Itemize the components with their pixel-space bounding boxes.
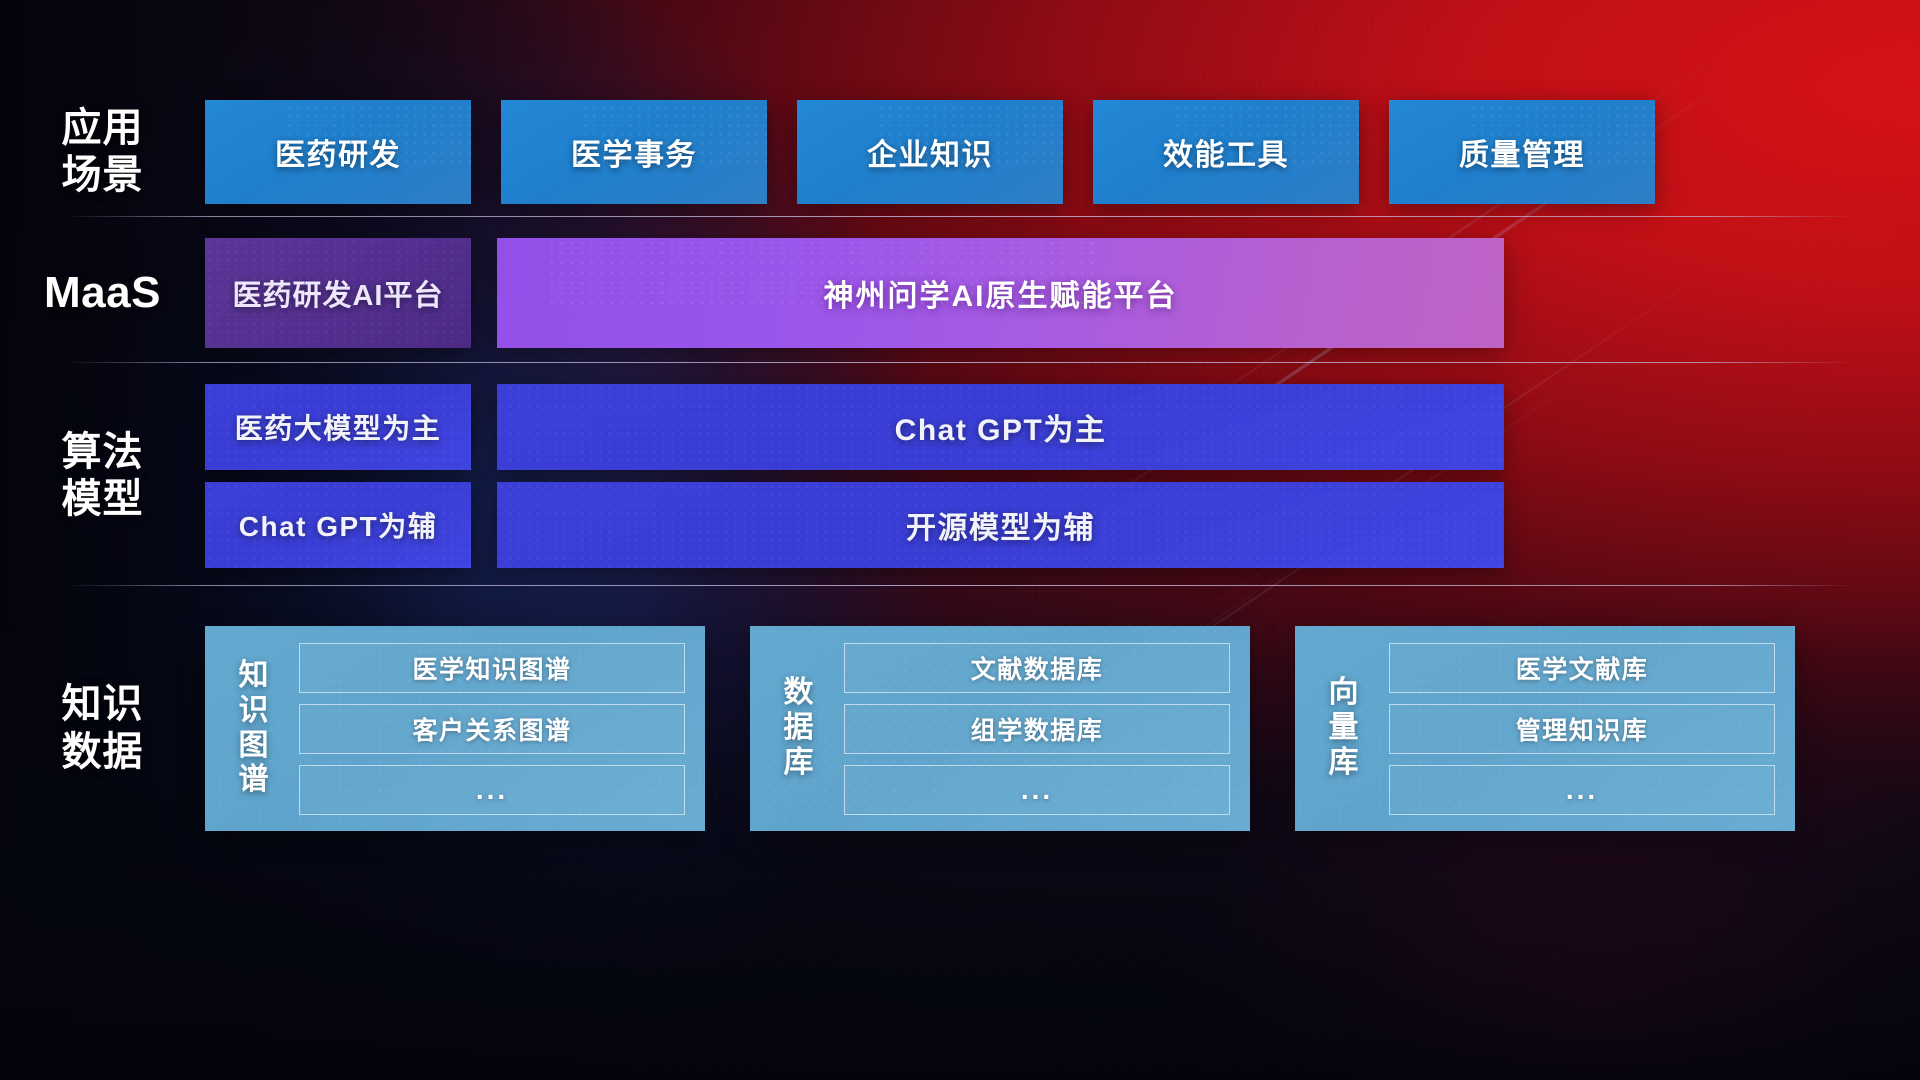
- knowledge-item-more[interactable]: ...: [299, 765, 685, 815]
- tier-body-maas: 医药研发AI平台 神州问学AI原生赋能平台: [205, 238, 1920, 348]
- tier-body-knowledge-data: 知 识 图 谱 医学知识图谱 客户关系图谱 ... 数 据 库 文献数据库 组学…: [205, 626, 1920, 831]
- divider-tier3-tier4: [72, 585, 1848, 586]
- algo-row-secondary: Chat GPT为辅 开源模型为辅: [205, 482, 1504, 568]
- knowledge-item-more[interactable]: ...: [844, 765, 1230, 815]
- knowledge-item-list: 医学文献库 管理知识库 ...: [1389, 643, 1775, 815]
- tier-algorithm-model: 算法 模型 医药大模型为主 Chat GPT为主 Chat GPT为辅 开源模型…: [0, 384, 1920, 568]
- knowledge-card-vertical-label: 知 识 图 谱: [223, 659, 285, 798]
- maas-box-drug-rd-ai-platform[interactable]: 医药研发AI平台: [205, 238, 471, 348]
- maas-left-label: 医药研发AI平台: [232, 272, 443, 314]
- scenario-label: 效能工具: [1163, 130, 1289, 174]
- scenario-box-quality-management[interactable]: 质量管理: [1389, 100, 1655, 204]
- scenario-box-medical-affairs[interactable]: 医学事务: [501, 100, 767, 204]
- algo-box-group: 医药大模型为主 Chat GPT为主 Chat GPT为辅 开源模型为辅: [205, 384, 1504, 568]
- algo-box-chatgpt-secondary[interactable]: Chat GPT为辅: [205, 482, 471, 568]
- algo-label: Chat GPT为辅: [239, 505, 438, 545]
- divider-tier1-tier2: [72, 216, 1848, 217]
- knowledge-card-vertical-label: 向 量 库: [1313, 676, 1375, 780]
- maas-box-shenzhou-wenxue-platform[interactable]: 神州问学AI原生赋能平台: [497, 238, 1504, 348]
- scenario-box-group: 医药研发 医学事务 企业知识 效能工具 质量管理: [205, 100, 1655, 204]
- tier-knowledge-data: 知识 数据 知 识 图 谱 医学知识图谱 客户关系图谱 ... 数 据 库 文献…: [0, 626, 1920, 831]
- algo-label: 开源模型为辅: [906, 503, 1095, 547]
- algo-row-primary: 医药大模型为主 Chat GPT为主: [205, 384, 1504, 470]
- tier-body-application-scenarios: 医药研发 医学事务 企业知识 效能工具 质量管理: [205, 100, 1920, 204]
- maas-main-label: 神州问学AI原生赋能平台: [824, 271, 1178, 315]
- tier-label-application-scenarios: 应用 场景: [0, 105, 205, 199]
- tier-label-algorithm-model: 算法 模型: [0, 429, 205, 523]
- scenario-box-enterprise-knowledge[interactable]: 企业知识: [797, 100, 1063, 204]
- tier-application-scenarios: 应用 场景 医药研发 医学事务 企业知识 效能工具 质量管理: [0, 100, 1920, 204]
- knowledge-card-vector-store[interactable]: 向 量 库 医学文献库 管理知识库 ...: [1295, 626, 1795, 831]
- algo-label: Chat GPT为主: [895, 405, 1107, 449]
- knowledge-item-management-knowledge-store[interactable]: 管理知识库: [1389, 704, 1775, 754]
- algo-box-chatgpt-primary[interactable]: Chat GPT为主: [497, 384, 1504, 470]
- tier-body-algorithm-model: 医药大模型为主 Chat GPT为主 Chat GPT为辅 开源模型为辅: [205, 384, 1920, 568]
- knowledge-item-list: 文献数据库 组学数据库 ...: [844, 643, 1230, 815]
- knowledge-item-omics-database[interactable]: 组学数据库: [844, 704, 1230, 754]
- scenario-label: 质量管理: [1459, 130, 1585, 174]
- scenario-box-efficiency-tools[interactable]: 效能工具: [1093, 100, 1359, 204]
- knowledge-item-literature-database[interactable]: 文献数据库: [844, 643, 1230, 693]
- architecture-diagram: 应用 场景 医药研发 医学事务 企业知识 效能工具 质量管理 MaaS 医药研发…: [0, 0, 1920, 1080]
- knowledge-card-group: 知 识 图 谱 医学知识图谱 客户关系图谱 ... 数 据 库 文献数据库 组学…: [205, 626, 1795, 831]
- divider-tier2-tier3: [72, 362, 1848, 363]
- knowledge-item-medical-knowledge-graph[interactable]: 医学知识图谱: [299, 643, 685, 693]
- maas-box-group: 医药研发AI平台 神州问学AI原生赋能平台: [205, 238, 1504, 348]
- knowledge-item-more[interactable]: ...: [1389, 765, 1775, 815]
- knowledge-card-knowledge-graph[interactable]: 知 识 图 谱 医学知识图谱 客户关系图谱 ...: [205, 626, 705, 831]
- scenario-label: 医药研发: [275, 130, 401, 174]
- scenario-label: 企业知识: [867, 130, 993, 174]
- knowledge-item-medical-literature-store[interactable]: 医学文献库: [1389, 643, 1775, 693]
- algo-box-pharma-llm-primary[interactable]: 医药大模型为主: [205, 384, 471, 470]
- tier-label-knowledge-data: 知识 数据: [0, 681, 205, 775]
- tier-label-maas: MaaS: [0, 267, 205, 319]
- knowledge-card-vertical-label: 数 据 库: [768, 676, 830, 780]
- scenario-box-drug-rd[interactable]: 医药研发: [205, 100, 471, 204]
- algo-label: 医药大模型为主: [235, 407, 442, 447]
- knowledge-card-database[interactable]: 数 据 库 文献数据库 组学数据库 ...: [750, 626, 1250, 831]
- scenario-label: 医学事务: [571, 130, 697, 174]
- knowledge-item-list: 医学知识图谱 客户关系图谱 ...: [299, 643, 685, 815]
- knowledge-item-customer-relation-graph[interactable]: 客户关系图谱: [299, 704, 685, 754]
- tier-maas: MaaS 医药研发AI平台 神州问学AI原生赋能平台: [0, 238, 1920, 348]
- algo-box-opensource-secondary[interactable]: 开源模型为辅: [497, 482, 1504, 568]
